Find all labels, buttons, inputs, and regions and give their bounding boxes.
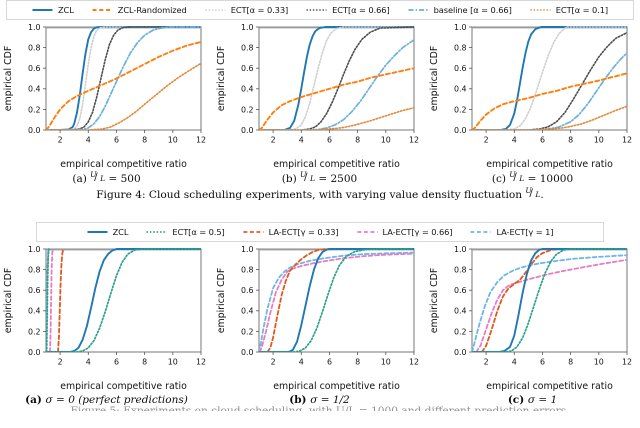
legend-line-swatch <box>470 228 491 236</box>
chart-caption-value: = 2500 <box>315 173 357 185</box>
figure-4-caption-text: Figure 4: Cloud scheduling experiments, … <box>96 189 522 201</box>
chart-caption-prefix: (b) <box>282 173 300 185</box>
y-tick-label: 0.2 <box>241 327 254 336</box>
x-tick-label: 12 <box>622 358 632 367</box>
x-tick-label: 6 <box>327 358 332 367</box>
legend-item-label: ZCL-Randomized <box>118 5 187 15</box>
series-line <box>259 108 414 130</box>
series-line <box>260 254 414 352</box>
x-tick-label: 8 <box>355 358 360 367</box>
legend-item-label: ECT[α = 0.66] <box>332 5 389 15</box>
legend-item-la-ect-0-33[interactable]: LA-ECT[γ = 0.33] <box>234 227 348 237</box>
series-line <box>259 27 414 130</box>
legend-item-zcl[interactable]: ZCL <box>23 5 83 15</box>
series-line <box>267 249 414 352</box>
y-axis-label: empirical CDF <box>429 46 440 112</box>
y-tick-label: 0.6 <box>28 286 41 295</box>
x-tick-label: 12 <box>409 358 419 367</box>
chart-caption-bot-a: (a) σ = 0 (perfect predictions) <box>0 394 213 406</box>
y-tick-label: 1.0 <box>241 245 254 254</box>
legend-line-swatch <box>357 228 378 236</box>
y-tick-label: 1.0 <box>454 23 467 32</box>
y-tick-label: 0.0 <box>454 348 467 357</box>
figure-4-caption: Figure 4: Cloud scheduling experiments, … <box>0 188 640 201</box>
y-tick-label: 0.0 <box>28 348 41 357</box>
cdf-plot-top-b: 246810120.00.20.40.60.81.0empirical comp… <box>213 20 426 172</box>
y-tick-label: 0.6 <box>241 286 254 295</box>
series-group <box>259 249 414 352</box>
chart-caption-prefix: (b) <box>289 394 310 406</box>
cdf-plot-top-a: 246810120.00.20.40.60.81.0empirical comp… <box>0 20 213 172</box>
y-axis-label: empirical CDF <box>429 268 440 334</box>
y-tick-label: 0.8 <box>241 266 254 275</box>
series-line <box>472 53 627 130</box>
x-axis-label: empirical competitive ratio <box>60 381 187 392</box>
legend-item-label: LA-ECT[γ = 0.66] <box>383 227 453 237</box>
series-line <box>58 249 63 352</box>
legend-bottom: ZCLECT[α = 0.5]LA-ECT[γ = 0.33]LA-ECT[γ … <box>36 222 604 242</box>
series-line <box>46 42 201 130</box>
y-tick-label: 0.6 <box>28 64 41 73</box>
x-tick-label: 10 <box>594 136 604 145</box>
series-line <box>259 40 414 130</box>
x-tick-label: 12 <box>196 358 206 367</box>
y-tick-label: 1.0 <box>241 23 254 32</box>
legend-item-label: baseline [α = 0.66] <box>434 5 512 15</box>
y-tick-label: 0.6 <box>241 64 254 73</box>
cdf-plot-bot-b: 246810120.00.20.40.60.81.0empirical comp… <box>213 242 426 394</box>
legend-line-swatch <box>306 6 327 14</box>
x-axis-label: empirical competitive ratio <box>273 159 400 170</box>
x-tick-label: 6 <box>114 358 119 367</box>
chart-caption-fraction: U/L <box>90 172 105 183</box>
y-tick-label: 0.2 <box>28 327 41 336</box>
legend-item-la-ect-0-66[interactable]: LA-ECT[γ = 0.66] <box>348 227 462 237</box>
chart-top-b: 246810120.00.20.40.60.81.0empirical comp… <box>213 20 426 185</box>
x-tick-label: 4 <box>299 358 304 367</box>
x-tick-label: 8 <box>568 136 573 145</box>
chart-caption-top-b: (b) U/L = 2500 <box>213 172 426 185</box>
x-tick-label: 8 <box>355 136 360 145</box>
y-tick-label: 0.8 <box>454 44 467 53</box>
legend-line-swatch <box>92 6 113 14</box>
chart-caption-math: σ = 0 (perfect predictions) <box>46 394 188 406</box>
y-tick-label: 0.0 <box>28 126 41 135</box>
chart-row-bottom: 246810120.00.20.40.60.81.0empirical comp… <box>0 242 640 406</box>
series-line <box>259 27 414 130</box>
x-tick-label: 10 <box>594 358 604 367</box>
legend-line-swatch <box>205 6 226 14</box>
legend-item-baseline-0-66[interactable]: baseline [α = 0.66] <box>399 5 521 15</box>
y-tick-label: 0.0 <box>454 126 467 135</box>
figure-top: ZCLZCL-RandomizedECT[α = 0.33]ECT[α = 0.… <box>0 0 640 201</box>
x-tick-label: 8 <box>142 136 147 145</box>
series-group <box>472 249 627 352</box>
series-line <box>46 249 201 352</box>
series-line <box>259 249 414 352</box>
x-axis-label: empirical competitive ratio <box>60 159 187 170</box>
legend-item-label: ECT[α = 0.33] <box>231 5 288 15</box>
series-line <box>259 249 414 352</box>
chart-bot-b: 246810120.00.20.40.60.81.0empirical comp… <box>213 242 426 406</box>
legend-item-la-ect-1[interactable]: LA-ECT[γ = 1] <box>461 227 562 237</box>
legend-item-ect-0-66[interactable]: ECT[α = 0.66] <box>297 5 398 15</box>
y-tick-label: 0.6 <box>454 64 467 73</box>
cdf-plot-top-c: 246810120.00.20.40.60.81.0empirical comp… <box>426 20 639 172</box>
figure-bottom: ZCLECT[α = 0.5]LA-ECT[γ = 0.33]LA-ECT[γ … <box>0 222 640 411</box>
chart-caption-math: σ = 1/2 <box>310 394 350 406</box>
chart-top-c: 246810120.00.20.40.60.81.0empirical comp… <box>426 20 639 185</box>
y-tick-label: 1.0 <box>28 245 41 254</box>
x-axis-label: empirical competitive ratio <box>486 159 613 170</box>
y-axis-label: empirical CDF <box>216 46 227 112</box>
chart-caption-top-c: (c) U/L = 10000 <box>426 172 639 185</box>
y-tick-label: 0.8 <box>241 44 254 53</box>
x-tick-label: 4 <box>512 358 517 367</box>
chart-caption-prefix: (a) <box>25 394 45 406</box>
chart-top-a: 246810120.00.20.40.60.81.0empirical comp… <box>0 20 213 185</box>
chart-caption-math: σ = 1 <box>528 394 557 406</box>
legend-item-label: ECT[α = 0.1] <box>556 5 608 15</box>
x-tick-label: 4 <box>86 358 91 367</box>
y-tick-label: 0.2 <box>454 327 467 336</box>
y-axis-label: empirical CDF <box>3 46 14 112</box>
series-group <box>259 27 414 130</box>
cdf-plot-bot-a: 246810120.00.20.40.60.81.0empirical comp… <box>0 242 213 394</box>
legend-item-ect-0-5[interactable]: ECT[α = 0.5] <box>137 227 233 237</box>
x-tick-label: 10 <box>168 358 178 367</box>
series-line <box>259 68 414 130</box>
chart-caption-value: = 10000 <box>524 173 573 185</box>
chart-caption-bot-b: (b) σ = 1/2 <box>213 394 426 406</box>
legend-item-label: ZCL <box>58 5 74 15</box>
chart-caption-prefix: (a) <box>72 173 90 185</box>
y-tick-label: 0.4 <box>28 85 41 94</box>
legend-line-swatch <box>530 6 551 14</box>
x-tick-label: 4 <box>512 136 517 145</box>
chart-row-top: 246810120.00.20.40.60.81.0empirical comp… <box>0 20 640 185</box>
y-tick-label: 0.6 <box>454 286 467 295</box>
x-tick-label: 6 <box>540 358 545 367</box>
legend-item-zcl[interactable]: ZCL <box>78 227 138 237</box>
figure-4-caption-fraction: U/L <box>525 188 540 199</box>
x-tick-label: 8 <box>568 358 573 367</box>
x-tick-label: 2 <box>484 136 489 145</box>
y-tick-label: 0.2 <box>28 105 41 114</box>
legend-line-swatch <box>243 228 264 236</box>
plot-frame <box>46 249 201 352</box>
x-tick-label: 10 <box>381 136 391 145</box>
x-axis-label: empirical competitive ratio <box>273 381 400 392</box>
x-tick-label: 6 <box>327 136 332 145</box>
y-tick-label: 0.2 <box>454 105 467 114</box>
y-tick-label: 0.8 <box>28 266 41 275</box>
chart-caption-fraction: U/L <box>300 172 315 183</box>
x-tick-label: 2 <box>271 358 276 367</box>
y-tick-label: 1.0 <box>28 23 41 32</box>
legend-item-label: ZCL <box>113 227 129 237</box>
series-line <box>50 249 53 352</box>
x-tick-label: 10 <box>168 136 178 145</box>
chart-caption-top-a: (a) U/L = 500 <box>0 172 213 185</box>
series-group <box>472 27 627 130</box>
series-line <box>259 27 414 130</box>
y-tick-label: 0.2 <box>241 105 254 114</box>
plot-frame <box>259 249 414 352</box>
plot-frame <box>259 27 414 130</box>
legend-line-swatch <box>32 6 53 14</box>
x-tick-label: 2 <box>484 358 489 367</box>
y-tick-label: 0.8 <box>28 44 41 53</box>
x-tick-label: 6 <box>114 136 119 145</box>
x-tick-label: 6 <box>540 136 545 145</box>
chart-caption-prefix: (c) <box>508 394 528 406</box>
x-tick-label: 4 <box>299 136 304 145</box>
legend-item-label: LA-ECT[γ = 1] <box>496 227 553 237</box>
x-tick-label: 12 <box>409 136 419 145</box>
legend-item-zcl-randomized[interactable]: ZCL-Randomized <box>83 5 196 15</box>
y-tick-label: 0.0 <box>241 348 254 357</box>
chart-bot-a: 246810120.00.20.40.60.81.0empirical comp… <box>0 242 213 406</box>
legend-line-swatch <box>87 228 108 236</box>
series-line <box>259 253 414 352</box>
y-tick-label: 0.4 <box>454 85 467 94</box>
y-tick-label: 0.0 <box>241 126 254 135</box>
legend-line-swatch <box>146 228 167 236</box>
series-line <box>46 63 201 130</box>
series-group <box>46 27 201 130</box>
chart-bot-c: 246810120.00.20.40.60.81.0empirical comp… <box>426 242 639 406</box>
y-axis-label: empirical CDF <box>3 268 14 334</box>
x-tick-label: 10 <box>381 358 391 367</box>
y-tick-label: 1.0 <box>454 245 467 254</box>
legend-item-label: ECT[α = 0.5] <box>172 227 224 237</box>
x-tick-label: 2 <box>58 136 63 145</box>
y-tick-label: 0.4 <box>28 307 41 316</box>
figure-5-caption-clipped: Figure 5: Experiments on cloud schedulin… <box>0 406 640 411</box>
y-tick-label: 0.4 <box>241 85 254 94</box>
legend-item-ect-0-1[interactable]: ECT[α = 0.1] <box>521 5 617 15</box>
series-line <box>482 249 627 352</box>
y-axis-label: empirical CDF <box>216 268 227 334</box>
x-tick-label: 4 <box>86 136 91 145</box>
x-tick-label: 12 <box>196 136 206 145</box>
y-tick-label: 0.4 <box>241 307 254 316</box>
chart-caption-bot-c: (c) σ = 1 <box>426 394 639 406</box>
y-tick-label: 0.4 <box>454 307 467 316</box>
y-tick-label: 0.8 <box>454 266 467 275</box>
chart-caption-value: = 500 <box>105 173 141 185</box>
x-tick-label: 2 <box>58 358 63 367</box>
x-tick-label: 8 <box>142 358 147 367</box>
chart-caption-fraction: U/L <box>509 172 524 183</box>
series-group <box>46 249 201 352</box>
x-tick-label: 12 <box>622 136 632 145</box>
legend-item-ect-0-33[interactable]: ECT[α = 0.33] <box>196 5 297 15</box>
legend-top: ZCLZCL-RandomizedECT[α = 0.33]ECT[α = 0.… <box>6 0 634 20</box>
legend-item-label: LA-ECT[γ = 0.33] <box>269 227 339 237</box>
chart-caption-prefix: (c) <box>492 173 509 185</box>
legend-line-swatch <box>408 6 429 14</box>
series-line <box>46 249 201 352</box>
x-tick-label: 2 <box>271 136 276 145</box>
x-axis-label: empirical competitive ratio <box>486 381 613 392</box>
cdf-plot-bot-c: 246810120.00.20.40.60.81.0empirical comp… <box>426 242 639 394</box>
figure-4-caption-period: . <box>540 189 543 201</box>
